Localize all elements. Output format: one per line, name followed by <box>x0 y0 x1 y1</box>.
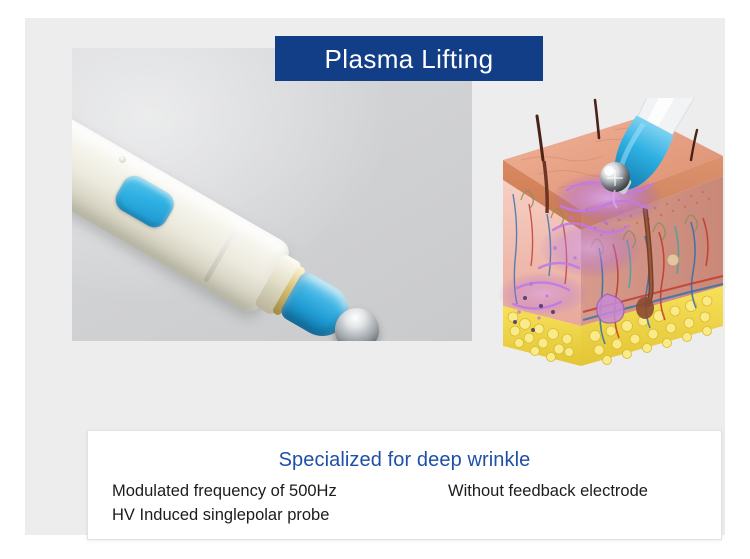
spec-item-frequency: Modulated frequency of 500Hz <box>112 479 442 503</box>
spec-item-probe: HV Induced singlepolar probe <box>112 503 442 527</box>
skin-diagram <box>495 98 725 380</box>
plasma-pen-device <box>72 92 383 341</box>
spec-column-left: Modulated frequency of 500Hz HV Induced … <box>112 479 442 527</box>
product-info-page: Plasma Lifting <box>0 0 750 559</box>
page-title: Plasma Lifting <box>325 46 494 72</box>
spec-column-right: Without feedback electrode <box>448 479 713 503</box>
pen-body <box>72 97 294 316</box>
specification-panel: Specialized for deep wrinkle Modulated f… <box>87 430 722 540</box>
content-canvas: Plasma Lifting <box>25 18 725 535</box>
spec-item-electrode: Without feedback electrode <box>448 479 713 503</box>
spec-heading: Specialized for deep wrinkle <box>88 449 721 472</box>
product-photo-panel <box>72 48 472 341</box>
title-banner: Plasma Lifting <box>275 36 543 81</box>
